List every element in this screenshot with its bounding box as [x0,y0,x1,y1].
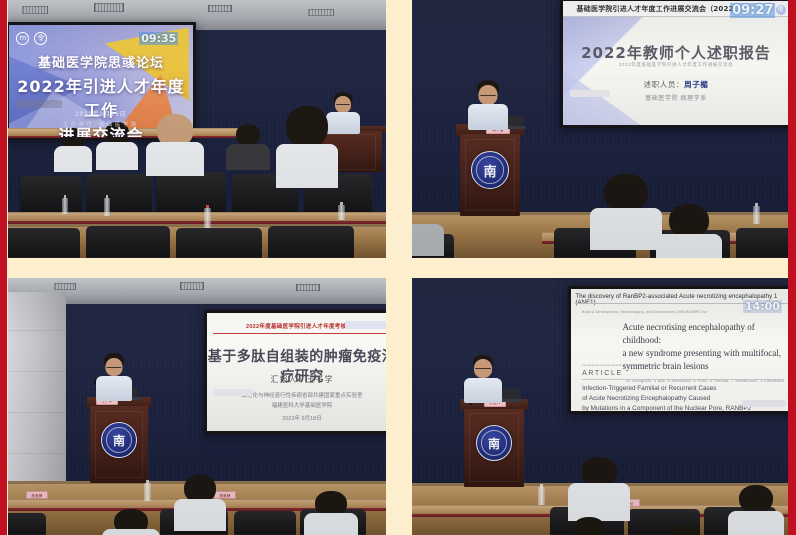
left-accent-bar [0,0,7,535]
auditorium-scene-tl: m 令 09:35 基础医学院思彧论坛 2022年引进人才年度工作 进展交流会 … [8,0,386,258]
podium-body: 南 [460,134,520,216]
university-emblem-icon: 南 [101,422,137,458]
audience-person [304,491,358,535]
timestamp-overlay: 09:35 [139,32,178,45]
audience-person [728,485,784,535]
slide-title-line1: 基础医学院思彧论坛 [9,52,193,71]
photo-top-left[interactable]: m 令 09:35 基础医学院思彧论坛 2022年引进人才年度工作 进展交流会 … [8,0,386,258]
photo-grid: m 令 09:35 基础医学院思彧论坛 2022年引进人才年度工作 进展交流会 … [0,0,796,535]
university-logo-icon: m [16,32,29,45]
podium: 南 [464,399,524,487]
ceiling-vent-icon [94,3,124,12]
photo-top-right[interactable]: 基础医学院引进人才年度工作进展交流会（2022 09:27 南 2022年教师个… [412,0,788,258]
glasses-icon [480,95,496,97]
seat [156,172,226,214]
photo-bottom-right[interactable]: The discovery of RanBP2-associated Acute… [412,278,788,535]
seat [8,228,80,258]
person-head [236,124,260,146]
slide-literature: The discovery of RanBP2-associated Acute… [571,289,788,411]
university-emblem-icon: 南 [476,425,512,461]
podium-body: 南 [464,409,524,487]
audience-person [102,509,160,535]
slide-footer: 主办单位 基础医学院 [9,121,193,128]
person-body [96,142,138,170]
speaker-torso [464,378,502,403]
slide-date: 2022年 9月18日 [207,414,386,422]
seat [86,226,170,258]
title-line-1: Acute necrotising encephalopathy of chil… [623,322,755,345]
article-rule [582,379,784,380]
ceiling-vent-icon [296,284,320,291]
speaker-person [464,357,502,403]
audience-person [568,457,630,521]
projection-screen-frame: 2022年度基础医学院引进人才年度考核报告 基于多肽自组装的肿瘤免疫治疗研究 汇… [204,310,386,434]
podium: 南 [90,397,148,483]
timestamp-overlay: 09:27 [730,3,775,18]
projection-screen-frame: m 令 09:35 基础医学院思彧论坛 2022年引进人才年度工作 进展交流会 … [8,22,196,140]
slide-logos: m 令 [16,32,47,45]
person-head [604,174,648,212]
presenter-name: 周子楣 [684,80,708,89]
person-head [286,106,328,148]
seat [86,174,152,214]
ceiling-vent-icon [54,283,76,290]
person-body [304,513,358,535]
slide-subtitle: 2022年度基础医学院引进人才年度工作进展交流会 [563,62,788,68]
person-body [568,483,630,521]
ceiling-vent-icon [208,5,232,12]
glasses-icon [475,368,491,370]
glasses-icon [336,104,350,106]
audience-person [562,517,616,535]
slide-header-rule [213,333,386,334]
slide-report-cover: 基础医学院引进人才年度工作进展交流会（2022 09:27 南 2022年教师个… [563,1,788,125]
podium: 南 [460,124,520,216]
collage-page: m 令 09:35 基础医学院思彧论坛 2022年引进人才年度工作 进展交流会 … [0,0,796,535]
title2-line-1: Infection-Triggered Familial or Recurren… [582,385,716,392]
audience-person [412,222,444,256]
seat [8,513,46,535]
person-body [276,144,338,188]
watermark-pill [570,90,610,97]
article-label: ARTICLE [582,370,784,377]
person-body [412,224,444,256]
seat [268,226,354,258]
podium-body: 南 [90,406,148,483]
journal-meta-2: The American Journal of Human Genetics V… [582,363,784,367]
audience-person [174,475,226,531]
title-line-2: a new syndrome presenting with multifoca… [623,348,781,358]
seat [176,228,262,258]
water-bottle [62,198,68,214]
title2-line-3: by Mutations in a Component of the Nucle… [582,405,751,411]
person-body [146,142,204,176]
watermark-pill [213,389,253,396]
person-body [102,529,160,535]
speaker-torso [96,376,132,401]
ceiling-vent-icon [180,282,204,290]
slide-annual-review: 2022年度基础医学院引进人才年度考核报告 基于多肽自组装的肿瘤免疫治疗研究 汇… [207,313,386,431]
college-logo-icon: 令 [34,32,47,45]
seat-row-front [8,218,386,258]
projection-screen-frame: 基础医学院引进人才年度工作进展交流会（2022 09:27 南 2022年教师个… [560,0,788,128]
speaker-person [468,82,508,130]
laptop [502,389,520,399]
projection-screen: The discovery of RanBP2-associated Acute… [571,289,788,411]
person-head [672,525,700,535]
person-body [174,499,226,531]
watermark-pill [742,400,786,407]
slide-forum-opener: m 令 09:35 基础医学院思彧论坛 2022年引进人才年度工作 进展交流会 … [9,25,193,137]
slide-header-text: 基础医学院引进人才年度工作进展交流会（2022 [577,4,734,14]
projection-screen: 2022年度基础医学院引进人才年度考核报告 基于多肽自组装的肿瘤免疫治疗研究 汇… [207,313,386,431]
literature-block-1: Brain & Development, Neuroimaging, and B… [582,310,784,359]
timestamp-overlay: 14:00 [743,300,782,313]
person-body [590,208,662,250]
speaker-person [96,355,132,401]
seat [20,176,82,214]
title2-line-2: of Acute Necrotizing Encephalopathy Caus… [582,395,710,402]
audience-person [656,204,722,258]
projection-screen-frame: The discovery of RanBP2-associated Acute… [568,286,788,414]
audience-person [590,174,662,250]
auditorium-scene-br: The discovery of RanBP2-associated Acute… [412,278,788,535]
presenter-label: 述职人员： [644,80,685,89]
slide-subtitle: 2022年9月18日 [9,109,193,118]
right-accent-bar [788,0,796,535]
person-body [656,234,722,258]
speaker-torso [468,104,508,130]
person-body [728,511,784,535]
glasses-icon [107,367,122,369]
slide-presenter: 汇报人：王子学 [207,374,386,385]
org-line-1: 脑老化与神经退行性疾病省部共建国家重点实验室 [241,393,362,399]
projection-screen: 基础医学院引进人才年度工作进展交流会（2022 09:27 南 2022年教师个… [563,1,788,125]
person-head [739,485,773,513]
channel-badge-icon: 南 [776,5,786,15]
seat [234,511,296,535]
watermark-pill [16,100,62,108]
projection-screen: m 令 09:35 基础医学院思彧论坛 2022年引进人才年度工作 进展交流会 … [9,25,193,137]
person-head [669,204,709,238]
ceiling-vent-icon [22,6,48,14]
ceiling-vent-icon [308,9,334,16]
seat [736,228,788,258]
auditorium-scene-bl: 2022年度基础医学院引进人才年度考核报告 基于多肽自组装的肿瘤免疫治疗研究 汇… [8,278,386,535]
audience-person [226,124,270,170]
person-body [226,144,270,170]
university-emblem-icon: 南 [471,151,509,189]
photo-bottom-left[interactable]: 2022年度基础医学院引进人才年度考核报告 基于多肽自组装的肿瘤免疫治疗研究 汇… [8,278,386,535]
slide-presenter-line: 述职人员：周子楣 [563,79,788,90]
org-line-2: 福建医科大学基础医学院 [272,403,333,409]
slide-title: 2022年教师个人述职报告 [563,42,788,63]
audience-person [276,106,338,188]
person-head [573,517,605,535]
auditorium-scene-tr: 基础医学院引进人才年度工作进展交流会（2022 09:27 南 2022年教师个… [412,0,788,258]
laptop [508,116,524,126]
water-bottle [104,198,110,216]
audience-person [662,525,710,535]
person-body [54,146,92,172]
slide-corner-box [345,321,386,329]
